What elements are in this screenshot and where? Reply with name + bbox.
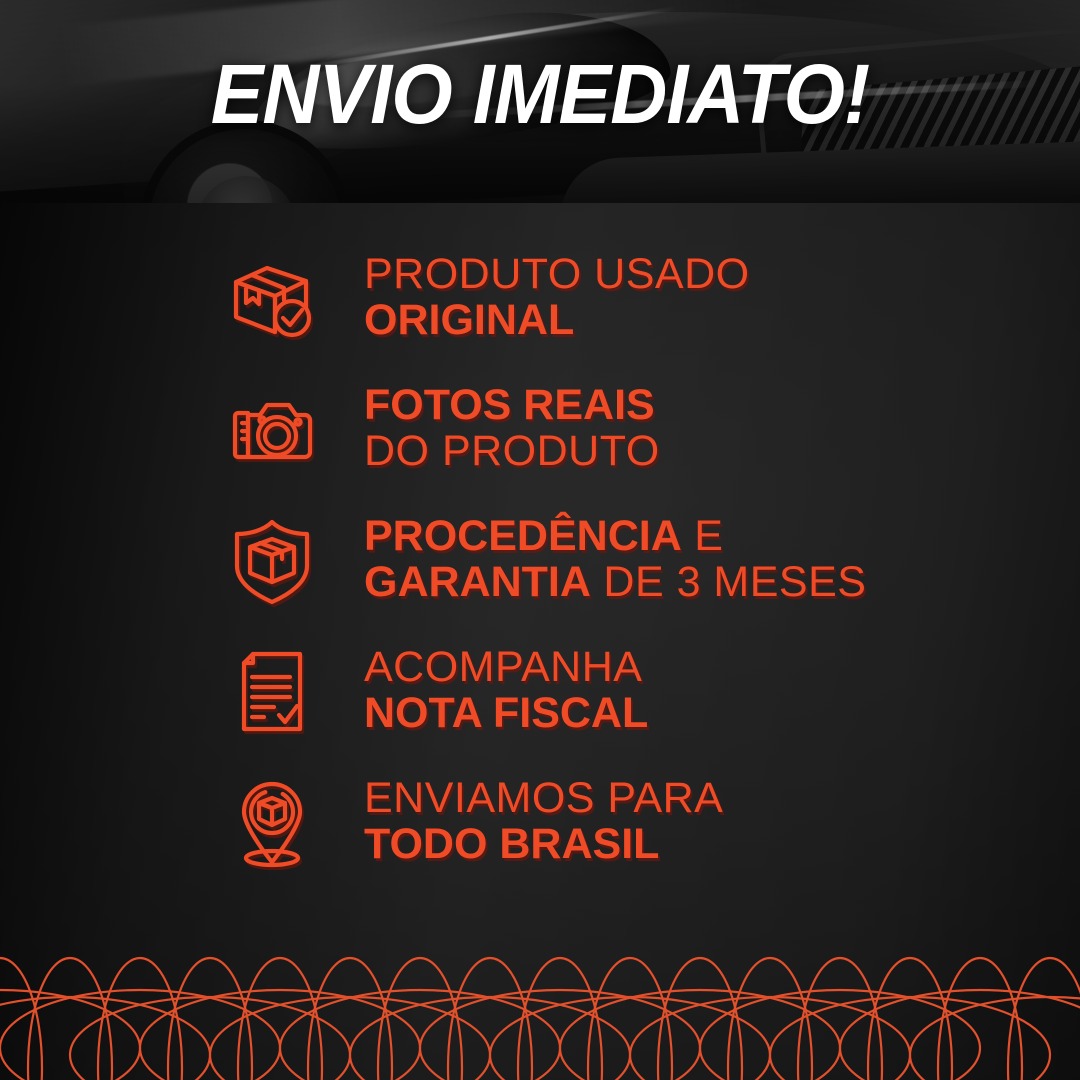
header-photo-band: ENVIO IMEDIATO! <box>0 0 1080 203</box>
feature-row-fotos-reais: FOTOS REAIS DO PRODUTO <box>222 363 1080 494</box>
feature-row-produto-original: PRODUTO USADO ORIGINAL <box>222 232 1080 363</box>
feature-row-nota-fiscal: ACOMPANHA NOTA FISCAL <box>222 625 1080 756</box>
footer-lattice-pattern <box>0 930 1080 1080</box>
feature-line-1: PROCEDÊNCIA E <box>364 514 866 560</box>
feature-row-procedencia-garantia: PROCEDÊNCIA E GARANTIA DE 3 MESES <box>222 494 1080 625</box>
map-pin-cube-icon <box>222 772 322 872</box>
feature-row-todo-brasil: ENVIAMOS PARA TODO BRASIL <box>222 756 1080 887</box>
feature-line-1: ACOMPANHA <box>364 645 648 691</box>
feature-list: PRODUTO USADO ORIGINAL FOTOS REAIS DO <box>0 232 1080 887</box>
feature-line-1: ENVIAMOS PARA <box>364 776 723 822</box>
feature-line-2: NOTA FISCAL <box>364 691 648 737</box>
invoice-document-check-icon <box>222 641 322 741</box>
package-box-check-icon <box>222 248 322 348</box>
feature-text: ENVIAMOS PARA TODO BRASIL <box>364 776 723 867</box>
feature-line-2-light: DE 3 MESES <box>591 558 867 606</box>
feature-line-2: DO PRODUTO <box>364 429 660 475</box>
feature-text: FOTOS REAIS DO PRODUTO <box>364 383 660 474</box>
feature-line-2: GARANTIA DE 3 MESES <box>364 560 866 606</box>
feature-text: PRODUTO USADO ORIGINAL <box>364 252 750 343</box>
feature-text: PROCEDÊNCIA E GARANTIA DE 3 MESES <box>364 514 866 605</box>
feature-text: ACOMPANHA NOTA FISCAL <box>364 645 648 736</box>
feature-line-2-bold: GARANTIA <box>364 558 591 606</box>
feature-line-1-light: E <box>682 512 724 560</box>
feature-line-1-bold: PROCEDÊNCIA <box>364 512 682 560</box>
feature-line-2: TODO BRASIL <box>364 822 723 868</box>
feature-line-2: ORIGINAL <box>364 298 750 344</box>
promo-banner: ENVIO IMEDIATO! PRODUTO USADO ORIGIN <box>0 0 1080 1080</box>
camera-icon <box>222 379 322 479</box>
feature-line-1: FOTOS REAIS <box>364 383 660 429</box>
shield-box-icon <box>222 510 322 610</box>
page-title: ENVIO IMEDIATO! <box>32 52 1047 136</box>
feature-line-1: PRODUTO USADO <box>364 252 750 298</box>
